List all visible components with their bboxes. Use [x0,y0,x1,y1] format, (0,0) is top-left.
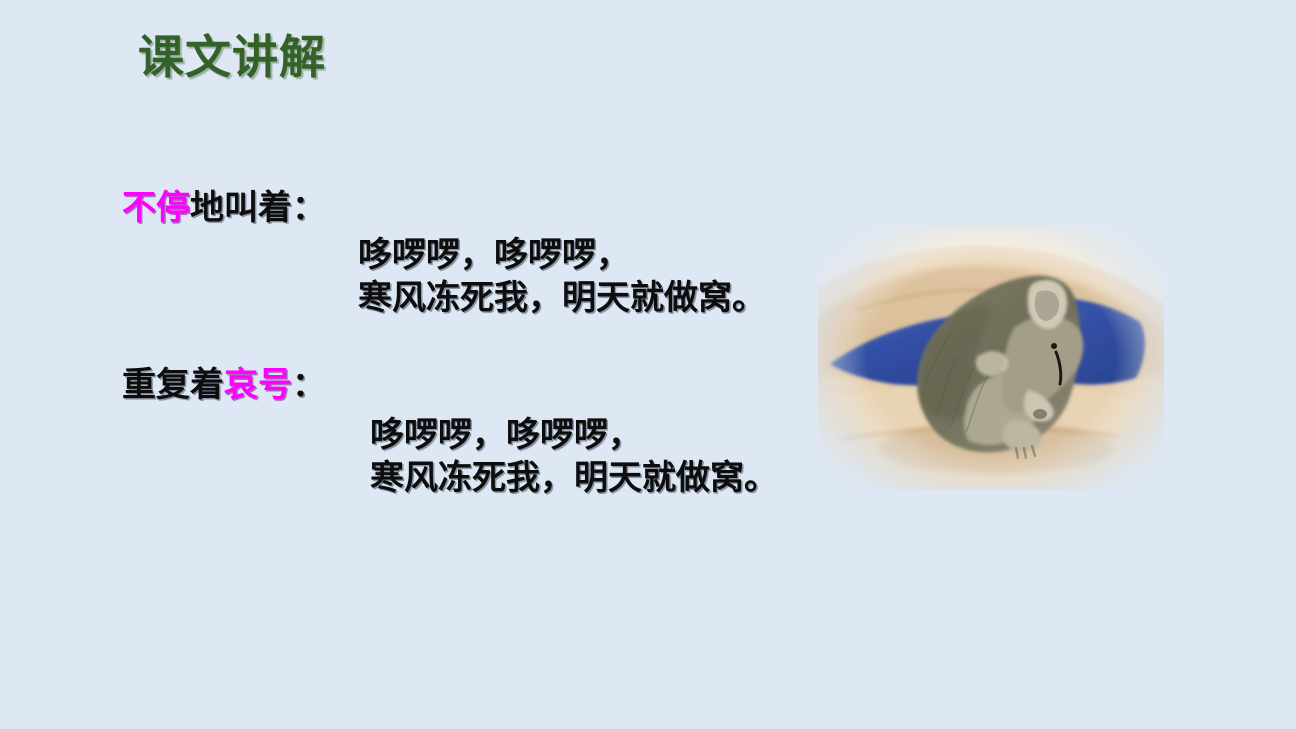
block-one-verse: 哆啰啰，哆啰啰， 寒风冻死我，明天就做窝。 [358,234,766,320]
huddled-animal-artwork [818,226,1164,490]
slide-canvas: 课文讲解 不停地叫着： 哆啰啰，哆啰啰， 寒风冻死我，明天就做窝。 重复着哀号：… [0,0,1296,729]
block-two-verse-line-2: 寒风冻死我，明天就做窝。 [370,457,778,500]
block-two-verse: 哆啰啰，哆啰啰， 寒风冻死我，明天就做窝。 [370,414,778,500]
cold-bird-illustration [818,226,1164,490]
block-one-verse-line-1: 哆啰啰，哆啰啰， [358,234,766,277]
block-one-label: 不停地叫着： [122,188,326,229]
block-one-label-suffix: 地叫着： [190,188,326,228]
block-one-label-highlight: 不停 [122,188,190,228]
block-two-label-suffix: ： [292,365,326,405]
block-two-label-prefix: 重复着 [122,365,224,405]
illustration-frame [818,226,1164,490]
block-one-verse-line-2: 寒风冻死我，明天就做窝。 [358,277,766,320]
block-two-verse-line-1: 哆啰啰，哆啰啰， [370,414,778,457]
page-title: 课文讲解 [138,33,326,83]
block-two-label: 重复着哀号： [122,365,326,406]
block-two-label-highlight: 哀号 [224,365,292,405]
